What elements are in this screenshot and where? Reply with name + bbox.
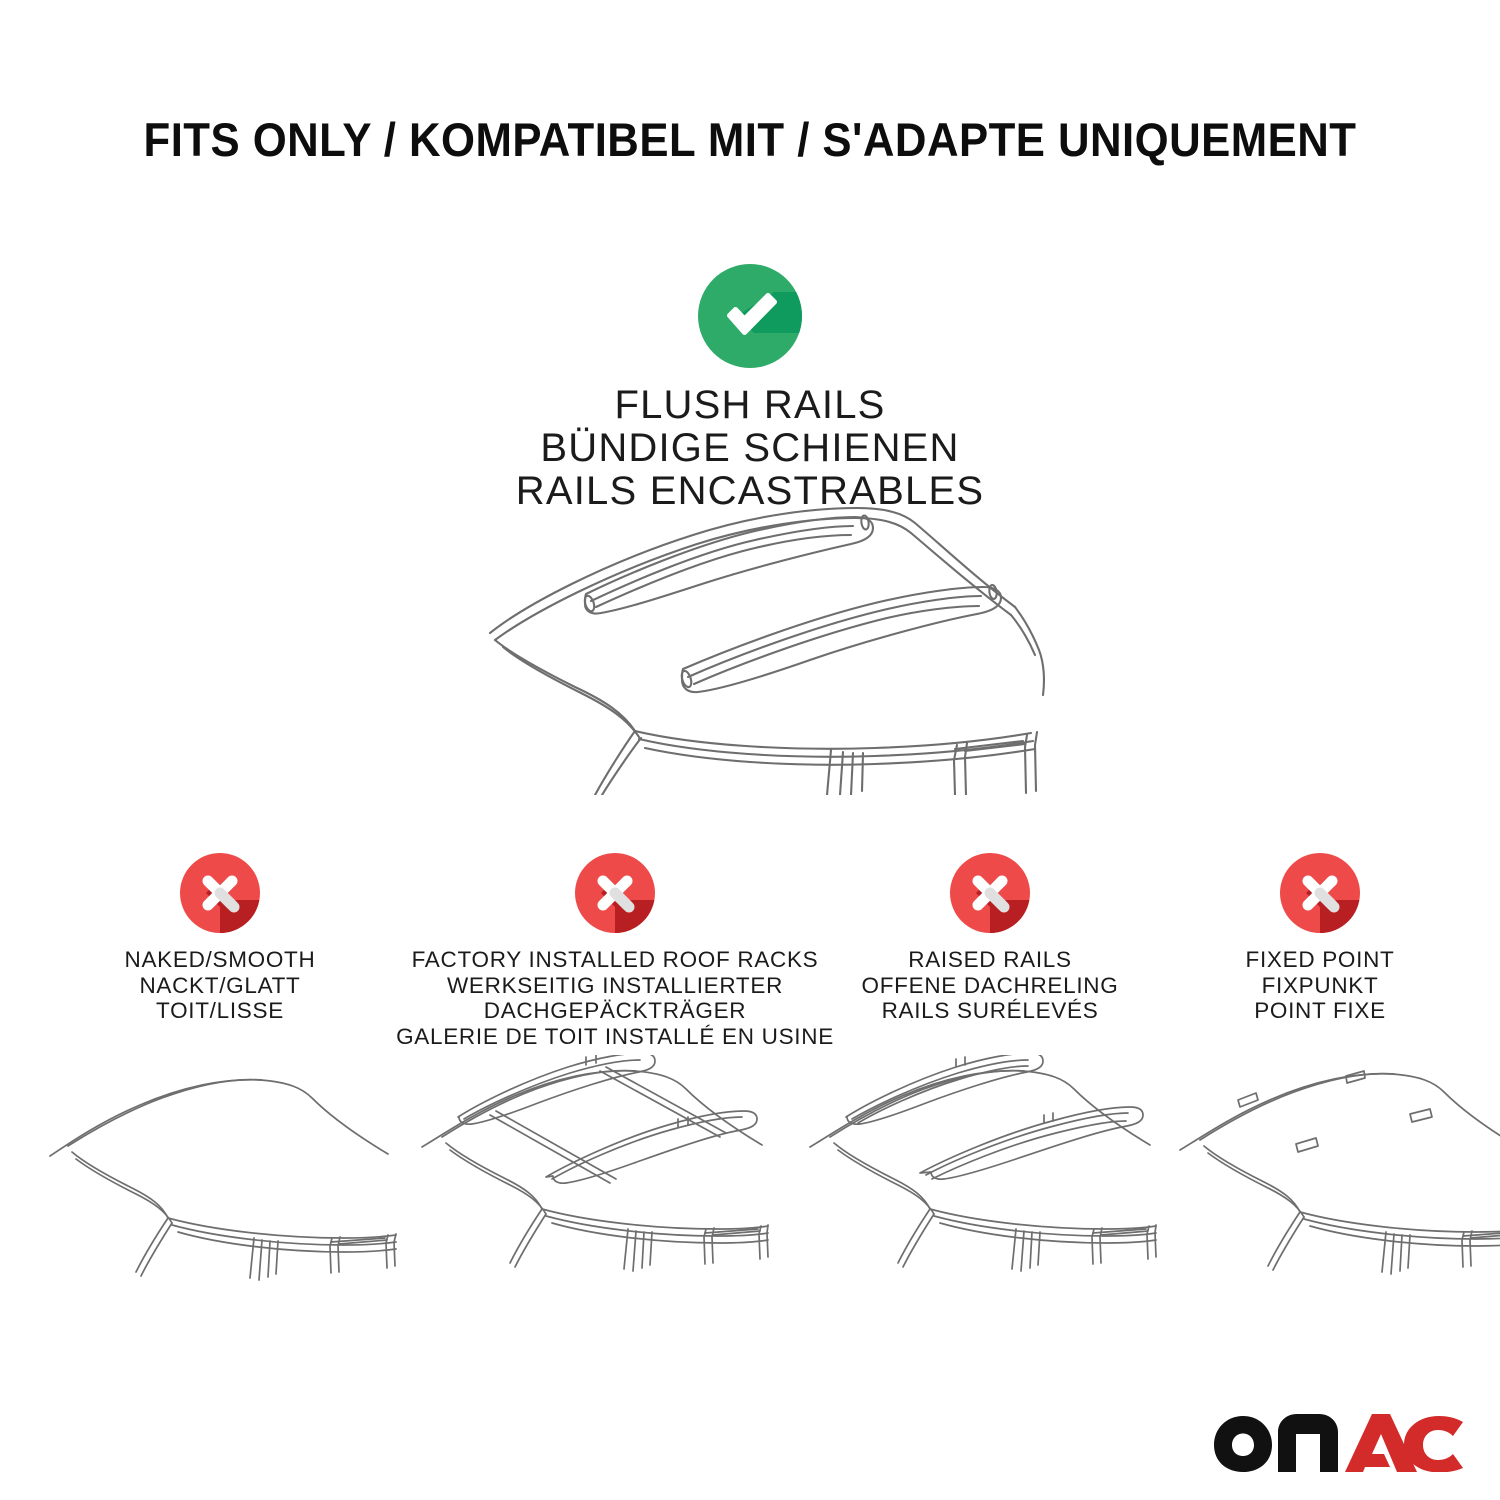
incompatible-label-line: TOIT/LISSE xyxy=(125,998,316,1024)
incompatible-label: FIXED POINT FIXPUNKT POINT FIXE xyxy=(1246,947,1395,1024)
red-x-circle-icon xyxy=(1279,852,1361,934)
car-roof-raised-rails-illustration xyxy=(808,1055,1158,1295)
incompatible-item-raised-rails: RAISED RAILS OFFENE DACHRELING RAILS SUR… xyxy=(825,852,1155,1049)
incompatible-item-naked-smooth: NAKED/SMOOTH NACKT/GLATT TOIT/LISSE xyxy=(30,852,410,1049)
incompatible-label-line: RAILS SURÉLEVÉS xyxy=(862,998,1119,1024)
page-title: FITS ONLY / KOMPATIBEL MIT / S'ADAPTE UN… xyxy=(53,112,1448,167)
incompatible-label-line: OFFENE DACHRELING xyxy=(862,973,1119,999)
red-x-circle-icon xyxy=(574,852,656,934)
incompatible-label-line: GALERIE DE TOIT INSTALLÉ EN USINE xyxy=(396,1024,834,1050)
incompatible-label-line: RAISED RAILS xyxy=(862,947,1119,973)
incompatible-item-fixed-point: FIXED POINT FIXPUNKT POINT FIXE xyxy=(1170,852,1470,1049)
compatible-section: FLUSH RAILS BÜNDIGE SCHIENEN RAILS ENCAS… xyxy=(0,262,1500,513)
car-roof-fixed-point-illustration xyxy=(1178,1058,1500,1298)
incompatible-label-line: FIXPUNKT xyxy=(1246,973,1395,999)
incompatible-label-line: FACTORY INSTALLED ROOF RACKS xyxy=(396,947,834,973)
compatible-label-de: BÜNDIGE SCHIENEN xyxy=(0,427,1500,470)
omac-logo xyxy=(1212,1410,1465,1472)
incompatible-label-line: NACKT/GLATT xyxy=(125,973,316,999)
incompatible-label: NAKED/SMOOTH NACKT/GLATT TOIT/LISSE xyxy=(125,947,316,1024)
compatible-labels: FLUSH RAILS BÜNDIGE SCHIENEN RAILS ENCAS… xyxy=(0,384,1500,513)
incompatible-item-factory-roof-racks: FACTORY INSTALLED ROOF RACKS WERKSEITIG … xyxy=(415,852,815,1049)
incompatible-label-line: FIXED POINT xyxy=(1246,947,1395,973)
car-roof-factory-installed-roof-racks-illustration xyxy=(420,1055,770,1295)
incompatible-label-line: NAKED/SMOOTH xyxy=(125,947,316,973)
green-check-circle-icon xyxy=(696,262,804,370)
incompatible-label-line: POINT FIXE xyxy=(1246,998,1395,1024)
incompatible-label: RAISED RAILS OFFENE DACHRELING RAILS SUR… xyxy=(862,947,1119,1024)
car-roof-naked-smooth-illustration xyxy=(48,1060,398,1300)
red-x-circle-icon xyxy=(179,852,261,934)
incompatible-illustrations xyxy=(0,1055,1500,1305)
car-roof-with-flush-rails-illustration xyxy=(455,495,1055,795)
compatible-label-en: FLUSH RAILS xyxy=(0,384,1500,427)
incompatible-label-line: DACHGEPÄCKTRÄGER xyxy=(396,998,834,1024)
incompatible-label-line: WERKSEITIG INSTALLIERTER xyxy=(396,973,834,999)
incompatible-label: FACTORY INSTALLED ROOF RACKS WERKSEITIG … xyxy=(396,947,834,1049)
red-x-circle-icon xyxy=(949,852,1031,934)
fitment-infographic: FITS ONLY / KOMPATIBEL MIT / S'ADAPTE UN… xyxy=(0,0,1500,1500)
incompatible-section: NAKED/SMOOTH NACKT/GLATT TOIT/LISSE xyxy=(0,852,1500,1049)
